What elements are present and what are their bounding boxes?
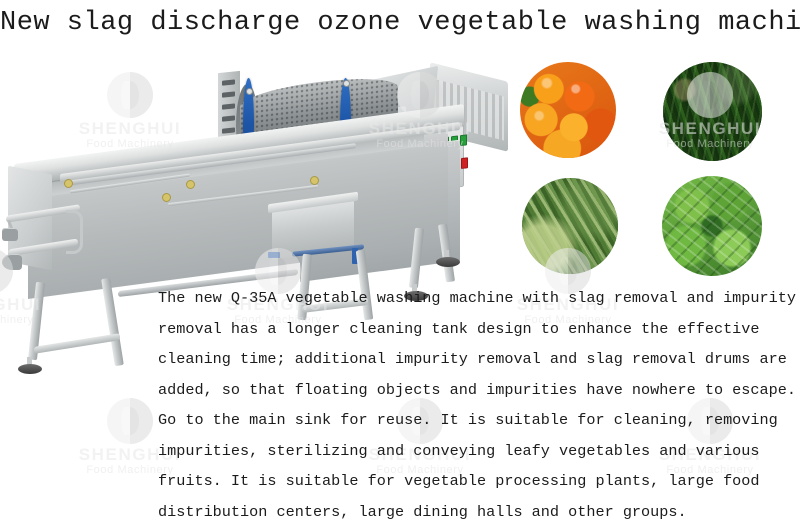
rod-knob — [162, 193, 171, 202]
rod-knob — [64, 179, 73, 188]
description-line: added, so that floating objects and impu… — [158, 375, 800, 406]
drum-bolt — [343, 80, 350, 87]
gallery-photo-lettuce — [662, 176, 762, 276]
description-line: The new Q-35A vegetable washing machine … — [158, 283, 800, 314]
drain-valve-upper — [2, 228, 18, 241]
gallery-photo-scallions — [663, 62, 762, 161]
stop-button-red[interactable] — [461, 157, 468, 169]
adjustable-foot — [18, 364, 42, 374]
description-line: removal has a longer cleaning tank desig… — [158, 314, 800, 345]
leg-brace — [34, 333, 120, 354]
description-line: Go to the main sink for reuse. It is sui… — [158, 405, 800, 436]
drain-valve-lower — [2, 254, 22, 270]
celery-texture — [522, 178, 618, 274]
description-line: fruits. It is suitable for vegetable pro… — [158, 466, 800, 497]
product-description: The new Q-35A vegetable washing machine … — [158, 283, 800, 527]
rod-knob — [186, 180, 195, 189]
rod-knob — [310, 176, 319, 185]
handrail-bend — [66, 210, 83, 254]
gallery-photo-oranges — [520, 62, 616, 158]
gallery-photo-celery-greens — [522, 178, 618, 274]
start-button-green[interactable] — [460, 134, 467, 146]
hose-tag — [268, 252, 280, 258]
page-title: New slag discharge ozone vegetable washi… — [0, 4, 800, 42]
lettuce-texture — [662, 176, 762, 276]
product-image-canvas: New slag discharge ozone vegetable washi… — [0, 0, 800, 532]
adjustable-foot — [436, 257, 460, 267]
description-line: cleaning time; additional impurity remov… — [158, 344, 800, 375]
description-line: impurities, sterilizing and conveying le… — [158, 436, 800, 467]
orange-texture — [520, 62, 616, 158]
description-line: distribution centers, large dining halls… — [158, 497, 800, 528]
scallion-texture — [663, 62, 762, 161]
drum-bolt — [246, 88, 253, 95]
shenghui-logo-icon — [107, 398, 153, 444]
